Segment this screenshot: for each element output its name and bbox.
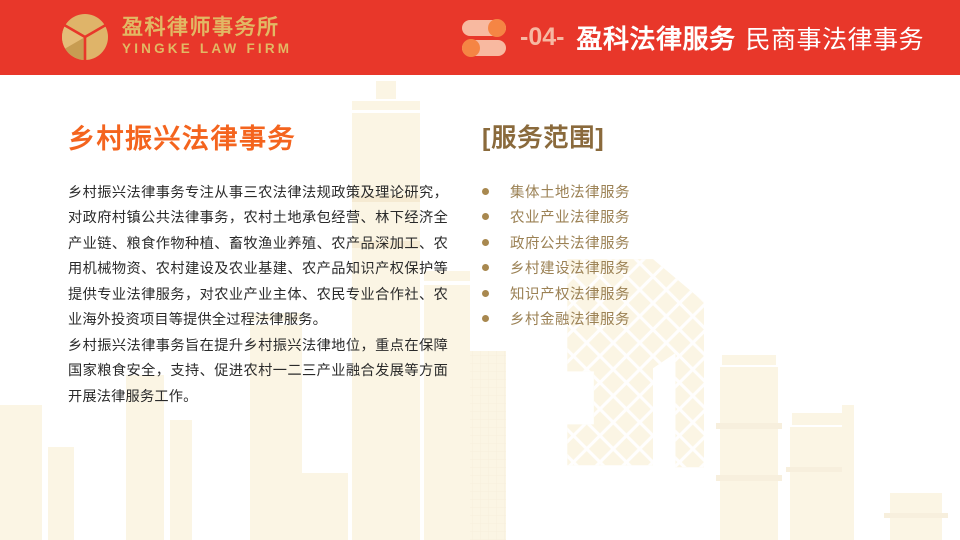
- brand-lockup: 盈科律师事务所 YINGKE LAW FIRM: [60, 12, 292, 62]
- header-title-primary: 盈科法律服务: [576, 19, 735, 56]
- bullet-icon: [482, 188, 489, 195]
- list-item-label: 农业产业法律服务: [510, 206, 630, 227]
- slide-root: 盈科律师事务所 YINGKE LAW FIRM -04- 盈科法律服务 民商事法…: [0, 0, 960, 540]
- list-item: 乡村建设法律服务: [482, 255, 882, 281]
- left-column: 乡村振兴法律事务 乡村振兴法律事务专注从事三农法律法规政策及理论研究，对政府村镇…: [68, 125, 448, 410]
- body-paragraph-1: 乡村振兴法律事务专注从事三农法律法规政策及理论研究，对政府村镇公共法律事务，农村…: [68, 181, 448, 334]
- body-paragraph-2: 乡村振兴法律事务旨在提升乡村振兴法律地位，重点在保障国家粮食安全，支持、促进农村…: [68, 334, 448, 411]
- header-title-group: -04- 盈科法律服务 民商事法律事务: [462, 0, 924, 75]
- slide-content: 乡村振兴法律事务 乡村振兴法律事务专注从事三农法律法规政策及理论研究，对政府村镇…: [0, 75, 960, 540]
- header-bar: 盈科律师事务所 YINGKE LAW FIRM -04- 盈科法律服务 民商事法…: [0, 0, 960, 75]
- list-item: 集体土地法律服务: [482, 179, 882, 205]
- list-item: 知识产权法律服务: [482, 281, 882, 307]
- list-item-label: 知识产权法律服务: [510, 283, 630, 304]
- bullet-icon: [482, 315, 489, 322]
- bullet-icon: [482, 239, 489, 246]
- bullet-icon: [482, 213, 489, 220]
- toggle-pill-bottom: [462, 40, 506, 56]
- double-toggle-pill-icon: [462, 20, 506, 56]
- list-item-label: 乡村金融法律服务: [510, 308, 630, 329]
- list-item: 农业产业法律服务: [482, 204, 882, 230]
- page-title: 乡村振兴法律事务: [68, 125, 448, 155]
- list-item: 政府公共法律服务: [482, 230, 882, 256]
- toggle-knob-right: [488, 19, 506, 37]
- header-title-secondary: 民商事法律事务: [745, 20, 924, 56]
- toggle-pill-top: [462, 20, 506, 36]
- right-column: [服务范围] 集体土地法律服务 农业产业法律服务 政府公共法律服务 乡村建设法律…: [482, 125, 882, 332]
- bullet-icon: [482, 290, 489, 297]
- yingke-circle-logo-icon: [60, 12, 110, 62]
- brand-name-cn: 盈科律师事务所: [122, 16, 292, 40]
- scope-list: 集体土地法律服务 农业产业法律服务 政府公共法律服务 乡村建设法律服务 知识产权…: [482, 179, 882, 332]
- bullet-icon: [482, 264, 489, 271]
- slide-number: -04-: [520, 23, 564, 52]
- list-item-label: 乡村建设法律服务: [510, 257, 630, 278]
- brand-text: 盈科律师事务所 YINGKE LAW FIRM: [122, 16, 292, 58]
- list-item: 乡村金融法律服务: [482, 306, 882, 332]
- scope-heading: [服务范围]: [482, 125, 882, 153]
- list-item-label: 政府公共法律服务: [510, 232, 630, 253]
- list-item-label: 集体土地法律服务: [510, 181, 630, 202]
- toggle-knob-left: [462, 39, 480, 57]
- brand-name-en: YINGKE LAW FIRM: [122, 40, 292, 58]
